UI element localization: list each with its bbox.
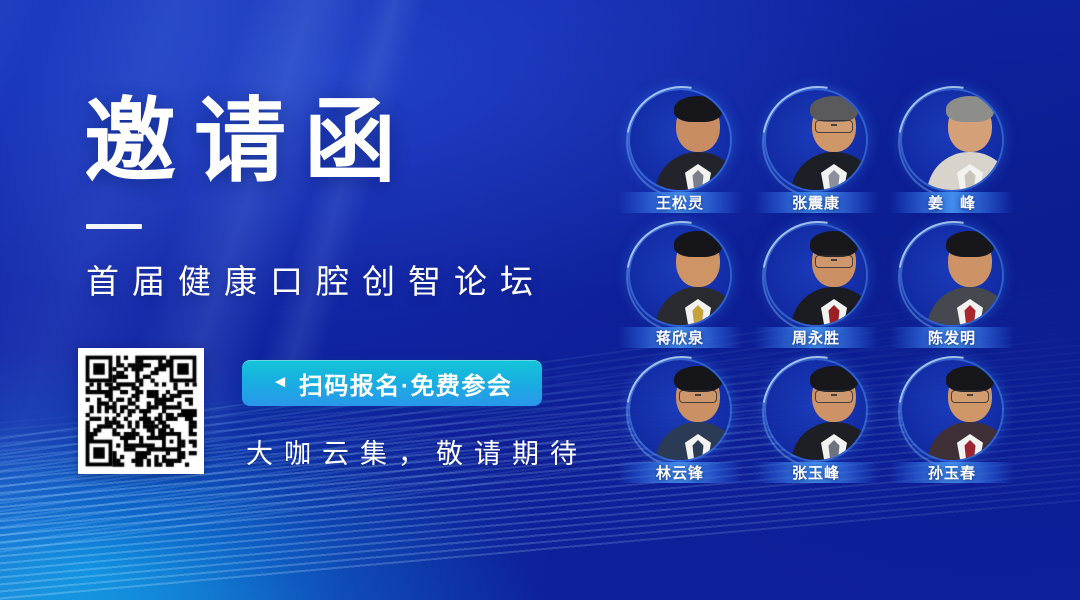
- speaker-name: 王松灵: [618, 192, 742, 213]
- headline-block: 邀请函 首届健康口腔创智论坛: [84, 96, 584, 303]
- avatar-ring: [630, 360, 730, 460]
- avatar-ring: [902, 225, 1002, 325]
- speaker-card[interactable]: 孙玉春: [884, 352, 1020, 487]
- speaker-name: 孙玉春: [890, 462, 1014, 483]
- avatar-ring: [766, 360, 866, 460]
- speaker-name: 姜 峰: [890, 192, 1014, 213]
- speaker-card[interactable]: 陈发明: [884, 217, 1020, 352]
- avatar: [648, 92, 730, 190]
- speaker-name: 张震康: [754, 192, 878, 213]
- speaker-card[interactable]: 蒋欣泉: [612, 217, 748, 352]
- speaker-card[interactable]: 林云锋: [612, 352, 748, 487]
- left-triangle-icon: ◄: [272, 372, 290, 392]
- glasses-icon: [815, 120, 853, 133]
- glasses-icon: [815, 255, 853, 268]
- avatar: [784, 227, 866, 325]
- glasses-icon: [951, 390, 989, 403]
- avatar: [648, 362, 730, 460]
- speaker-card[interactable]: 张震康: [748, 82, 884, 217]
- avatar-ring: [902, 360, 1002, 460]
- event-subtitle: 首届健康口腔创智论坛: [86, 255, 584, 303]
- speaker-name: 周永胜: [754, 327, 878, 348]
- avatar: [648, 227, 730, 325]
- invitation-poster: 邀请函 首届健康口腔创智论坛 ◄ 扫码报名·免费参会 大咖云集，敬请期待 王松灵…: [0, 0, 1080, 600]
- speaker-card[interactable]: 王松灵: [612, 82, 748, 217]
- avatar-ring: [766, 225, 866, 325]
- speaker-name: 陈发明: [890, 327, 1014, 348]
- avatar: [920, 227, 1002, 325]
- avatar: [784, 92, 866, 190]
- speaker-card[interactable]: 姜 峰: [884, 82, 1020, 217]
- qr-code[interactable]: [78, 348, 204, 474]
- speaker-grid: 王松灵张震康姜 峰蒋欣泉周永胜陈发明林云锋张玉峰孙玉春: [612, 82, 1020, 487]
- register-button[interactable]: ◄ 扫码报名·免费参会: [242, 360, 542, 406]
- avatar-ring: [902, 90, 1002, 190]
- speaker-card[interactable]: 张玉峰: [748, 352, 884, 487]
- registration-block: ◄ 扫码报名·免费参会 大咖云集，敬请期待: [78, 348, 588, 474]
- avatar: [784, 362, 866, 460]
- register-button-label: 扫码报名·免费参会: [299, 366, 513, 401]
- glasses-icon: [679, 390, 717, 403]
- avatar-ring: [766, 90, 866, 190]
- speaker-card[interactable]: 周永胜: [748, 217, 884, 352]
- speaker-name: 蒋欣泉: [618, 327, 742, 348]
- speaker-name: 张玉峰: [754, 462, 878, 483]
- cta-column: ◄ 扫码报名·免费参会 大咖云集，敬请期待: [242, 348, 588, 471]
- avatar: [920, 92, 1002, 190]
- avatar: [920, 362, 1002, 460]
- avatar-ring: [630, 225, 730, 325]
- title-divider: [86, 224, 142, 229]
- tagline-text: 大咖云集，敬请期待: [246, 432, 588, 471]
- speaker-name: 林云锋: [618, 462, 742, 483]
- avatar-ring: [630, 90, 730, 190]
- glasses-icon: [815, 390, 853, 403]
- page-title: 邀请函: [84, 96, 584, 188]
